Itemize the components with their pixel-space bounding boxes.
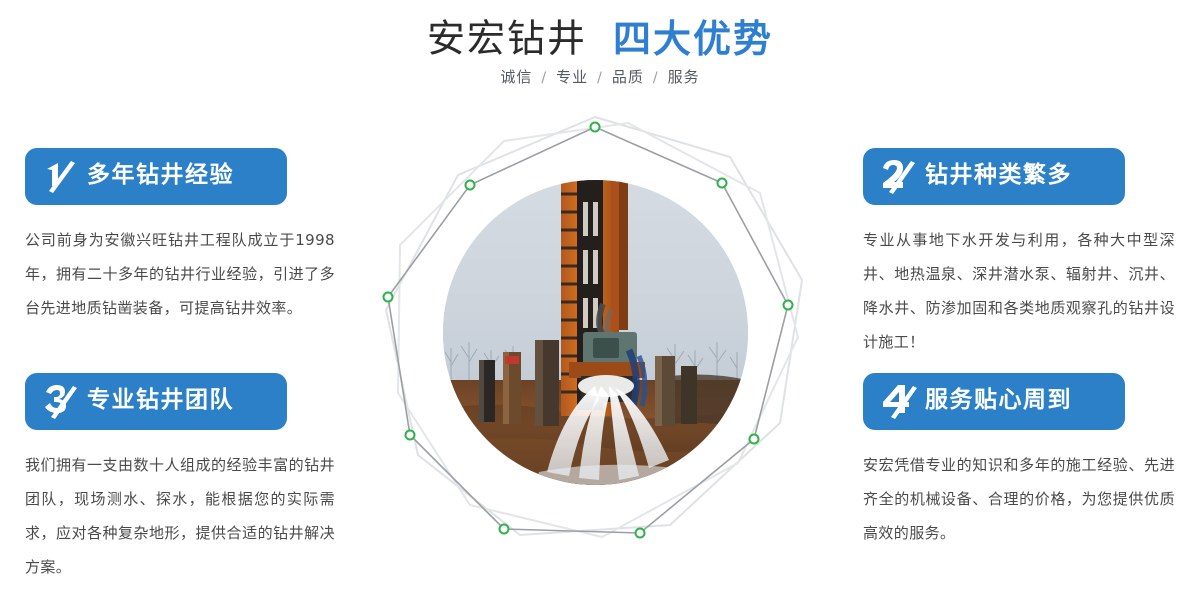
vertex-node-7	[384, 293, 393, 302]
vertex-node-2	[784, 301, 793, 310]
feature-card-3[interactable]: 专业钻井团队 我们拥有一支由数十人组成的经验丰富的钻井团队，现场测水、探水，能根…	[25, 373, 355, 584]
feature-body-4: 安宏凭借专业的知识和多年的施工经验、先进齐全的机械设备、合理的价格，为您提供优质…	[863, 448, 1175, 550]
drilling-site-photo	[443, 180, 748, 485]
page-header: 安宏钻井四大优势 诚信/专业/品质/服务	[0, 0, 1200, 110]
subtitle-separator-0: /	[541, 70, 547, 86]
number-two-slash-icon	[879, 156, 919, 198]
center-graphic	[370, 105, 820, 575]
feature-body-3: 我们拥有一支由数十人组成的经验丰富的钻井团队，现场测水、探水，能根据您的实际需求…	[25, 448, 335, 584]
feature-title-2: 钻井种类繁多	[925, 164, 1072, 189]
vertex-node-0	[591, 123, 600, 132]
subtitle-item-1: 专业	[556, 68, 588, 86]
feature-badge-3[interactable]: 专业钻井团队	[25, 373, 287, 430]
vertex-node-6	[406, 431, 415, 440]
vertex-node-1	[718, 179, 727, 188]
feature-badge-4[interactable]: 服务贴心周到	[863, 373, 1125, 430]
feature-card-4[interactable]: 服务贴心周到 安宏凭借专业的知识和多年的施工经验、先进齐全的机械设备、合理的价格…	[863, 373, 1193, 550]
title-company-name: 安宏钻井	[427, 17, 587, 61]
subtitle-item-2: 品质	[612, 68, 644, 86]
feature-body-1: 公司前身为安徽兴旺钻井工程队成立于1998年，拥有二十多年的钻井行业经验，引进了…	[25, 223, 335, 325]
number-four-slash-icon	[879, 381, 919, 423]
feature-title-4: 服务贴心周到	[925, 389, 1072, 414]
feature-body-2: 专业从事地下水开发与利用，各种大中型深井、地热温泉、深井潜水泵、辐射井、沉井、降…	[863, 223, 1175, 359]
feature-title-3: 专业钻井团队	[87, 389, 234, 414]
feature-card-2[interactable]: 钻井种类繁多 专业从事地下水开发与利用，各种大中型深井、地热温泉、深井潜水泵、辐…	[863, 148, 1193, 359]
page-subtitle: 诚信/专业/品质/服务	[0, 66, 1200, 87]
feature-badge-2[interactable]: 钻井种类繁多	[863, 148, 1125, 205]
vertex-node-3	[750, 435, 759, 444]
feature-card-1[interactable]: 多年钻井经验 公司前身为安徽兴旺钻井工程队成立于1998年，拥有二十多年的钻井行…	[25, 148, 355, 325]
subtitle-item-0: 诚信	[500, 68, 532, 86]
feature-badge-1[interactable]: 多年钻井经验	[25, 148, 287, 205]
vertex-node-8	[466, 181, 475, 190]
subtitle-separator-2: /	[653, 70, 659, 86]
feature-title-1: 多年钻井经验	[87, 164, 234, 189]
page-title: 安宏钻井四大优势	[0, 14, 1200, 62]
number-three-slash-icon	[41, 381, 81, 423]
title-accent-text: 四大优势	[613, 17, 773, 61]
vertex-node-4	[636, 529, 645, 538]
vertex-node-5	[500, 525, 509, 534]
subtitle-item-3: 服务	[668, 68, 700, 86]
number-one-slash-icon	[41, 156, 81, 198]
subtitle-separator-1: /	[597, 70, 603, 86]
drilling-site-illustration	[443, 180, 748, 485]
promo-page: 安宏钻井四大优势 诚信/专业/品质/服务	[0, 0, 1200, 600]
